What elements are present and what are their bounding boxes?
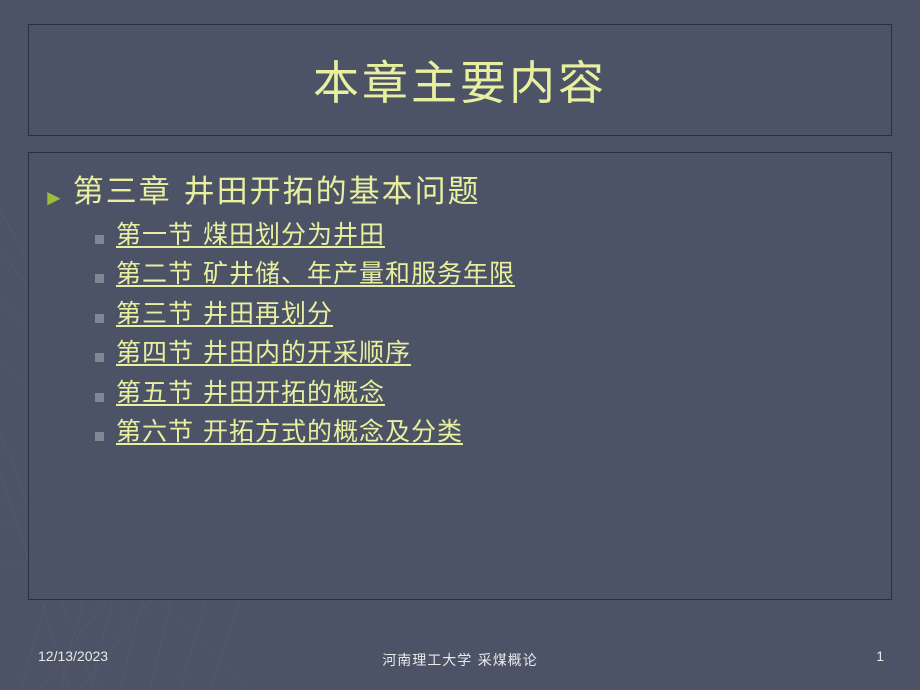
square-bullet-icon [95,314,104,323]
list-item-label[interactable]: 第三节 井田再划分 [116,300,333,328]
list-item[interactable]: 第四节 井田内的开采顺序 [43,339,867,367]
chapter-heading: ► 第三章 井田开拓的基本问题 [43,175,867,211]
list-item-label[interactable]: 第六节 开拓方式的概念及分类 [116,418,463,446]
square-bullet-icon [95,353,104,362]
list-item[interactable]: 第二节 矿井储、年产量和服务年限 [43,260,867,288]
square-bullet-icon [95,235,104,244]
triangle-bullet-icon: ► [43,187,65,209]
list-item-label[interactable]: 第五节 井田开拓的概念 [116,379,385,407]
list-item-label[interactable]: 第二节 矿井储、年产量和服务年限 [116,260,515,288]
list-item[interactable]: 第五节 井田开拓的概念 [43,379,867,407]
list-item[interactable]: 第一节 煤田划分为井田 [43,221,867,249]
list-item-label[interactable]: 第一节 煤田划分为井田 [116,221,385,249]
square-bullet-icon [95,393,104,402]
square-bullet-icon [95,432,104,441]
list-item[interactable]: 第六节 开拓方式的概念及分类 [43,418,867,446]
list-item-label[interactable]: 第四节 井田内的开采顺序 [116,339,411,367]
footer-center-text: 河南理工大学 采煤概论 [0,650,920,670]
page-title: 本章主要内容 [29,47,891,113]
chapter-heading-label: 第三章 井田开拓的基本问题 [73,175,481,211]
content-box: ► 第三章 井田开拓的基本问题 第一节 煤田划分为井田 第二节 矿井储、年产量和… [28,152,892,600]
square-bullet-icon [95,274,104,283]
title-box: 本章主要内容 [28,24,892,136]
slide: 本章主要内容 ► 第三章 井田开拓的基本问题 第一节 煤田划分为井田 第二节 矿… [0,0,920,690]
footer-page-number: 1 [876,648,884,664]
list-item[interactable]: 第三节 井田再划分 [43,300,867,328]
slide-footer: 12/13/2023 河南理工大学 采煤概论 1 [0,634,920,690]
